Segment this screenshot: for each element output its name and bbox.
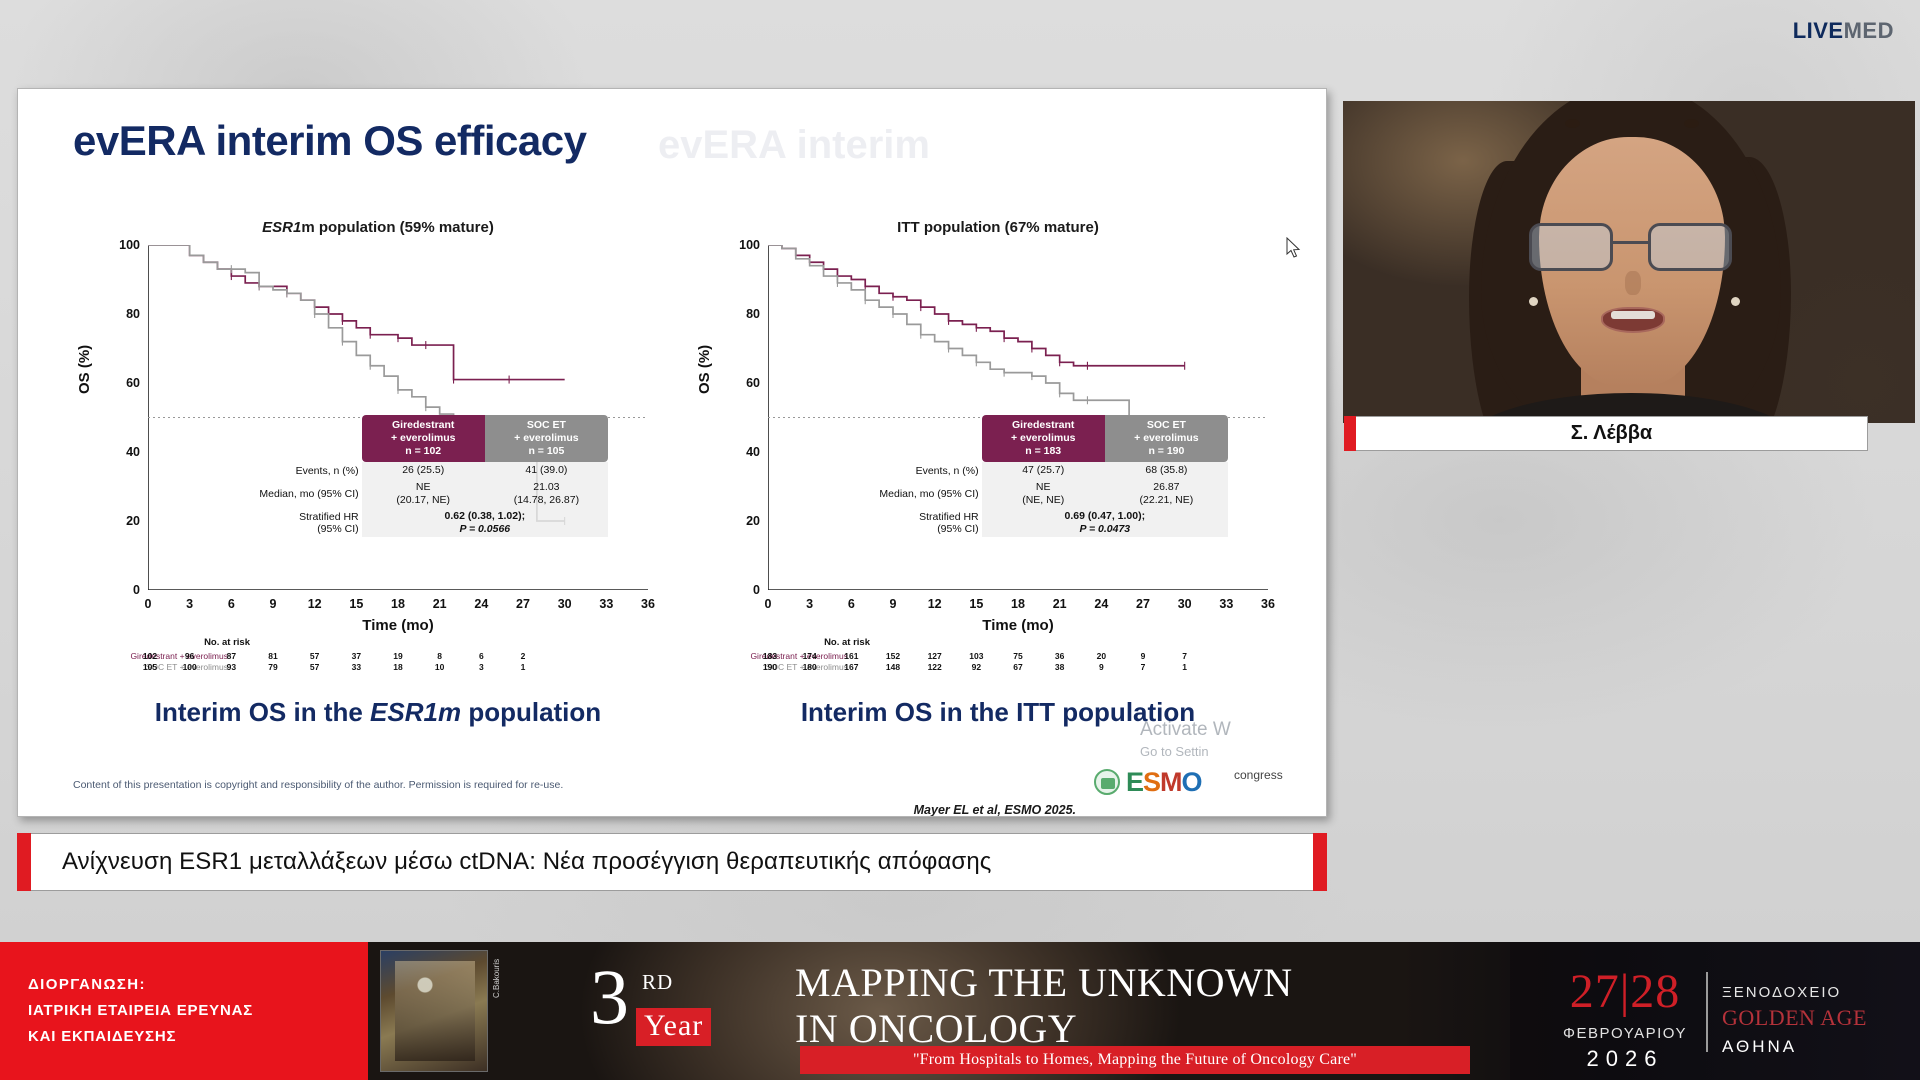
stats-events-giredestrant: 47 (25.7) xyxy=(982,462,1105,479)
venue-city: ΑΘΗΝΑ xyxy=(1722,1037,1867,1057)
x-tick-label: 24 xyxy=(1094,597,1108,611)
stats-events-giredestrant: 26 (25.5) xyxy=(362,462,485,479)
risk-value: 33 xyxy=(352,662,361,672)
banner-venue: ΞΕΝΟΔΟΧΕΙΟ GOLDEN AGE ΑΘΗΝΑ xyxy=(1722,984,1867,1057)
banner-date-month: ΦΕΒΡΟΥΑΡΙΟΥ xyxy=(1535,1025,1715,1042)
x-tick-label: 15 xyxy=(349,597,363,611)
esmo-wordmark: ESMO xyxy=(1126,767,1202,798)
risk-value: 1 xyxy=(521,662,526,672)
stats-row-label-median: Median, mo (95% CI) xyxy=(228,479,362,508)
risk-value: 7 xyxy=(1182,651,1187,661)
speaker-earring-right xyxy=(1731,297,1740,306)
risk-value: 79 xyxy=(268,662,277,672)
activate-windows-watermark: Activate W Go to Settin xyxy=(1140,717,1231,760)
session-title-bar: Ανίχνευση ESR1 μεταλλάξεων μέσω ctDNA: Ν… xyxy=(17,833,1327,891)
glasses-lens-right xyxy=(1648,223,1732,271)
x-tick-label: 12 xyxy=(308,597,322,611)
chart-esr1m-yticks: 020406080100 xyxy=(94,245,144,590)
x-tick-label: 36 xyxy=(1261,597,1275,611)
activate-windows-line2: Go to Settin xyxy=(1140,743,1231,761)
x-tick-label: 21 xyxy=(1053,597,1067,611)
chart-esr1m-xlabel: Time (mo) xyxy=(148,617,648,634)
risk-value: 1 xyxy=(1182,662,1187,672)
risk-value: 19 xyxy=(393,651,402,661)
stats-hr-value: 0.62 (0.38, 1.02);P = 0.0566 xyxy=(362,508,608,537)
chart-itt-xlabel: Time (mo) xyxy=(768,617,1268,634)
stats-row-label-hr: Stratified HR(95% CI) xyxy=(848,508,982,537)
risk-value: 105 xyxy=(143,662,157,672)
risk-value: 20 xyxy=(1097,651,1106,661)
risk-value: 9 xyxy=(1099,662,1104,672)
risk-value: 6 xyxy=(479,651,484,661)
risk-value: 3 xyxy=(479,662,484,672)
risk-value: 183 xyxy=(763,651,777,661)
risk-value: 93 xyxy=(227,662,236,672)
speaker-eye-right xyxy=(1684,119,1699,128)
esmo-logo: ESMO congress xyxy=(1094,761,1304,801)
banner-title-line-1: MAPPING THE UNKNOWN xyxy=(795,962,1293,1004)
stats-median-giredestrant: NE(NE, NE) xyxy=(982,479,1105,508)
risk-value: 75 xyxy=(1013,651,1022,661)
risk-value: 92 xyxy=(972,662,981,672)
risk-value: 87 xyxy=(227,651,236,661)
risk-value: 67 xyxy=(1013,662,1022,672)
risk-value: 7 xyxy=(1141,662,1146,672)
risk-value: 161 xyxy=(844,651,858,661)
banner-organizer-block: ΔΙΟΡΓΑΝΩΣΗ: ΙΑΤΡΙΚΗ ΕΤΑΙΡΕΙΑ ΕΡΕΥΝΑΣ ΚΑΙ… xyxy=(0,942,368,1080)
esmo-mark-icon xyxy=(1094,769,1120,795)
banner-title-line-2: IN ONCOLOGY xyxy=(795,1008,1293,1050)
chart-itt-xticks: 0369121518212427303336 xyxy=(768,597,1268,615)
livemed-logo-primary: LIVE xyxy=(1793,18,1844,43)
x-tick-label: 0 xyxy=(765,597,772,611)
speaker-earring-left xyxy=(1529,297,1538,306)
speaker-nameplate: Σ. Λέββα xyxy=(1355,416,1868,451)
stats-median-soc: 21.03(14.78, 26.87) xyxy=(485,479,608,508)
stats-row-label-hr: Stratified HR(95% CI) xyxy=(228,508,362,537)
risk-value: 57 xyxy=(310,651,319,661)
x-tick-label: 9 xyxy=(890,597,897,611)
glasses-lens-left xyxy=(1529,223,1613,271)
y-tick-label: 20 xyxy=(126,514,140,528)
charts-container: ESR1m population (59% mature) OS (%) 020… xyxy=(18,219,1327,699)
speaker-teeth xyxy=(1611,311,1655,319)
year-number: 3 xyxy=(590,953,629,1040)
livemed-logo: LIVEMED xyxy=(1793,18,1894,44)
chart-itt-stats-table: Giredestrant+ everolimusn = 183 SOC ET+ … xyxy=(848,415,1228,537)
y-tick-label: 40 xyxy=(126,445,140,459)
stats-median-giredestrant: NE(20.17, NE) xyxy=(362,479,485,508)
organizer-line-1: ΔΙΟΡΓΑΝΩΣΗ: xyxy=(28,972,368,998)
stats-row-label-median: Median, mo (95% CI) xyxy=(848,479,982,508)
speaker-nose xyxy=(1625,271,1641,295)
stats-header-giredestrant: Giredestrant+ everolimusn = 183 xyxy=(982,415,1105,462)
speaker-mouth xyxy=(1601,307,1665,333)
chart-esr1m-ylabel: OS (%) xyxy=(76,345,93,394)
risk-value: 37 xyxy=(352,651,361,661)
risk-caption: No. at risk xyxy=(100,637,250,648)
stats-events-soc: 68 (35.8) xyxy=(1105,462,1228,479)
risk-value: 100 xyxy=(183,662,197,672)
glasses-bridge xyxy=(1613,241,1648,244)
risk-value: 57 xyxy=(310,662,319,672)
banner-divider xyxy=(1706,972,1708,1052)
risk-value: 190 xyxy=(763,662,777,672)
chart-itt-ylabel: OS (%) xyxy=(696,345,713,394)
risk-value: 81 xyxy=(268,651,277,661)
x-tick-label: 36 xyxy=(641,597,655,611)
congress-banner: ΔΙΟΡΓΑΝΩΣΗ: ΙΑΤΡΙΚΗ ΕΤΑΙΡΕΙΑ ΕΡΕΥΝΑΣ ΚΑΙ… xyxy=(0,942,1920,1080)
chart-esr1m: ESR1m population (59% mature) OS (%) 020… xyxy=(58,219,698,699)
activate-windows-line1: Activate W xyxy=(1140,717,1231,743)
slide-title: evERA interim OS efficacy xyxy=(73,117,586,165)
screen-root: LIVEMED evERA interim evERA interim OS e… xyxy=(0,0,1920,1080)
chart-esr1m-title: ESR1m population (59% mature) xyxy=(58,219,698,236)
chart-esr1m-xticks: 0369121518212427303336 xyxy=(148,597,648,615)
risk-value: 102 xyxy=(143,651,157,661)
y-tick-label: 20 xyxy=(746,514,760,528)
risk-value: 103 xyxy=(969,651,983,661)
organizer-line-3: ΚΑΙ ΕΚΠΑΙΔΕΥΣΗΣ xyxy=(28,1024,368,1050)
esmo-congress-label: congress xyxy=(1234,768,1283,782)
speaker-glasses-icon xyxy=(1529,223,1735,271)
session-title-text: Ανίχνευση ESR1 μεταλλάξεων μέσω ctDNA: Ν… xyxy=(62,848,991,876)
stats-header-giredestrant: Giredestrant+ everolimusn = 102 xyxy=(362,415,485,462)
banner-main-title: MAPPING THE UNKNOWN IN ONCOLOGY xyxy=(795,962,1293,1050)
x-tick-label: 6 xyxy=(848,597,855,611)
presentation-slide[interactable]: evERA interim evERA interim OS efficacy … xyxy=(17,88,1327,817)
banner-artwork-credit: C.Bakouris xyxy=(492,959,501,998)
stats-row-label-events: Events, n (%) xyxy=(848,462,982,479)
x-tick-label: 21 xyxy=(433,597,447,611)
chart-esr1m-stats-table: Giredestrant+ everolimusn = 102 SOC ET+ … xyxy=(228,415,608,537)
venue-label: ΞΕΝΟΔΟΧΕΙΟ xyxy=(1722,984,1867,1001)
year-ordinal: RD xyxy=(642,970,673,995)
risk-value: 152 xyxy=(886,651,900,661)
y-tick-label: 100 xyxy=(119,238,140,252)
speaker-eye-left xyxy=(1565,119,1580,128)
livemed-logo-secondary: MED xyxy=(1844,18,1894,43)
risk-value: 18 xyxy=(393,662,402,672)
x-tick-label: 27 xyxy=(1136,597,1150,611)
risk-value: 10 xyxy=(435,662,444,672)
x-tick-label: 24 xyxy=(474,597,488,611)
risk-caption: No. at risk xyxy=(720,637,870,648)
banner-tagline: "From Hospitals to Homes, Mapping the Fu… xyxy=(800,1046,1470,1074)
risk-row-soc: SOC ET + everolimus 19018016714812292673… xyxy=(678,662,1318,674)
x-tick-label: 27 xyxy=(516,597,530,611)
x-tick-label: 33 xyxy=(599,597,613,611)
banner-artwork-thumbnail xyxy=(380,950,488,1072)
slide-copyright: Content of this presentation is copyrigh… xyxy=(73,779,563,791)
risk-value: 127 xyxy=(928,651,942,661)
risk-value: 148 xyxy=(886,662,900,672)
banner-year-badge: 3 RD Year xyxy=(590,960,629,1034)
x-tick-label: 3 xyxy=(186,597,193,611)
x-tick-label: 33 xyxy=(1219,597,1233,611)
stats-header-soc: SOC ET+ everolimusn = 190 xyxy=(1105,415,1228,462)
y-tick-label: 60 xyxy=(746,376,760,390)
x-tick-label: 18 xyxy=(1011,597,1025,611)
chart-itt: ITT population (67% mature) OS (%) 02040… xyxy=(678,219,1318,699)
banner-date-days: 27|28 xyxy=(1535,964,1715,1019)
stats-events-soc: 41 (39.0) xyxy=(485,462,608,479)
venue-name: GOLDEN AGE xyxy=(1722,1005,1867,1031)
x-tick-label: 15 xyxy=(969,597,983,611)
risk-row-soc: SOC ET + everolimus 10510093795733181031 xyxy=(58,662,698,674)
y-tick-label: 0 xyxy=(753,583,760,597)
y-tick-label: 80 xyxy=(746,307,760,321)
x-tick-label: 3 xyxy=(806,597,813,611)
risk-value: 174 xyxy=(803,651,817,661)
stats-header-soc: SOC ET+ everolimusn = 105 xyxy=(485,415,608,462)
y-tick-label: 100 xyxy=(739,238,760,252)
stats-hr-value: 0.69 (0.47, 1.00);P = 0.0473 xyxy=(982,508,1228,537)
slide-citation: Mayer EL et al, ESMO 2025. xyxy=(914,803,1076,817)
x-tick-label: 9 xyxy=(270,597,277,611)
risk-value: 122 xyxy=(928,662,942,672)
x-tick-label: 18 xyxy=(391,597,405,611)
y-tick-label: 40 xyxy=(746,445,760,459)
x-tick-label: 12 xyxy=(928,597,942,611)
x-tick-label: 30 xyxy=(558,597,572,611)
risk-value: 2 xyxy=(521,651,526,661)
risk-value: 167 xyxy=(844,662,858,672)
chart-itt-yticks: 020406080100 xyxy=(714,245,764,590)
risk-value: 36 xyxy=(1055,651,1064,661)
slide-title-ghost: evERA interim xyxy=(658,123,930,168)
y-tick-label: 60 xyxy=(126,376,140,390)
stats-row-label-events: Events, n (%) xyxy=(228,462,362,479)
organizer-line-2: ΙΑΤΡΙΚΗ ΕΤΑΙΡΕΙΑ ΕΡΕΥΝΑΣ xyxy=(28,998,368,1024)
y-tick-label: 0 xyxy=(133,583,140,597)
speaker-video-tile[interactable] xyxy=(1343,101,1915,423)
risk-value: 8 xyxy=(437,651,442,661)
stats-median-soc: 26.87(22.21, NE) xyxy=(1105,479,1228,508)
x-tick-label: 30 xyxy=(1178,597,1192,611)
y-tick-label: 80 xyxy=(126,307,140,321)
chart-itt-title: ITT population (67% mature) xyxy=(678,219,1318,236)
caption-esr1m: Interim OS in the ESR1m population xyxy=(58,697,698,728)
risk-value: 96 xyxy=(185,651,194,661)
banner-date-year: 2026 xyxy=(1535,1046,1715,1072)
risk-value: 9 xyxy=(1141,651,1146,661)
year-word: Year xyxy=(636,1008,711,1046)
speaker-name: Σ. Λέββα xyxy=(1571,422,1652,445)
risk-value: 180 xyxy=(803,662,817,672)
risk-value: 38 xyxy=(1055,662,1064,672)
banner-dates: 27|28 ΦΕΒΡΟΥΑΡΙΟΥ 2026 xyxy=(1535,964,1715,1072)
x-tick-label: 6 xyxy=(228,597,235,611)
x-tick-label: 0 xyxy=(145,597,152,611)
